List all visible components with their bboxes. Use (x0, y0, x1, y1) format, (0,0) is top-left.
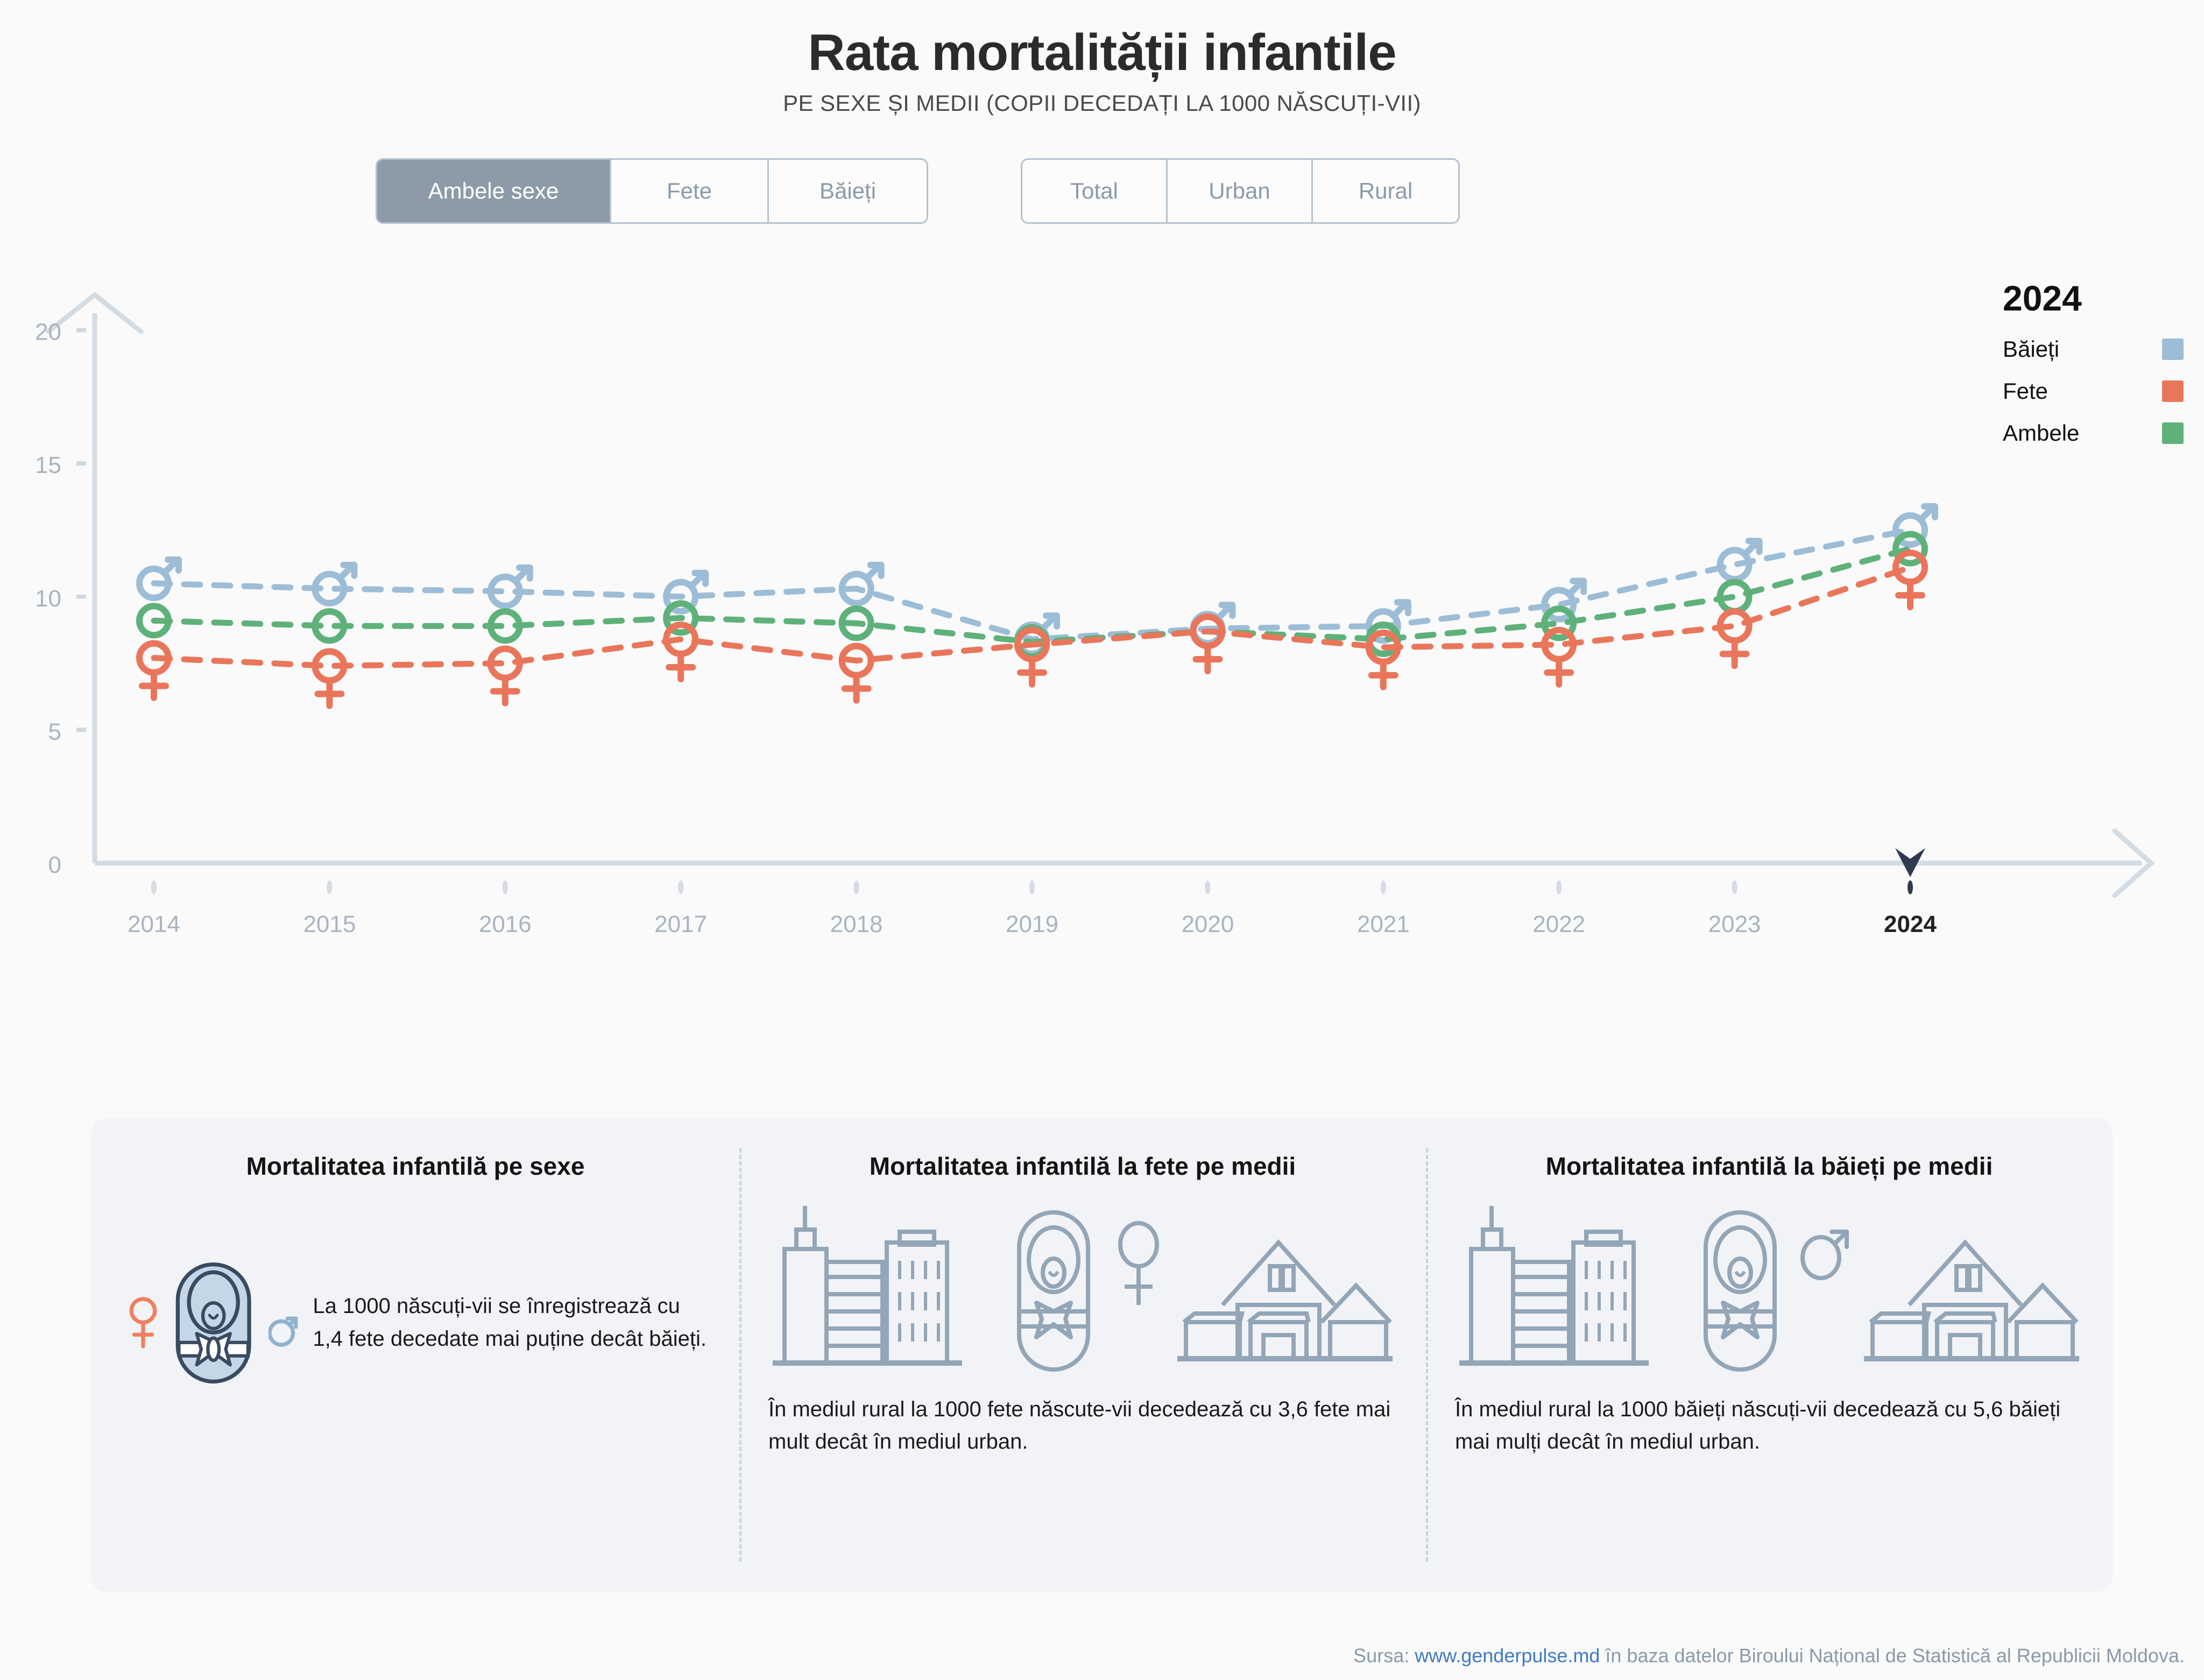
data-point-male-symbol[interactable] (1193, 605, 1232, 643)
swaddled-baby-icon (1691, 1202, 1793, 1379)
x-tick (503, 880, 508, 894)
toggle-urban[interactable]: Urban (1168, 160, 1313, 222)
x-tick (1556, 880, 1562, 894)
toggle-baieti[interactable]: Băieți (769, 160, 927, 222)
toggle-fete[interactable]: Fete (611, 160, 769, 222)
male-symbol-icon (269, 1261, 299, 1385)
x-axis-label[interactable]: 2018 (830, 911, 883, 937)
legend-item-ambele[interactable]: Ambele (1967, 412, 2193, 454)
x-axis-label[interactable]: 2019 (1006, 911, 1058, 937)
chart-area: 0510152020142015201620172018201920202021… (0, 271, 2204, 917)
x-tick (854, 880, 859, 894)
x-tick (1732, 880, 1737, 894)
female-symbol-icon (128, 1261, 158, 1385)
chart-legend: 2024 Băieți Fete Ambele (1967, 278, 2193, 454)
x-axis-label[interactable]: 2022 (1532, 911, 1585, 937)
source-link[interactable]: www.genderpulse.md (1415, 1644, 1600, 1667)
infographic-page: Rata mortalității infantile PE SEXE ȘI M… (0, 0, 2204, 1680)
y-axis-label: 15 (35, 452, 61, 478)
x-axis-label[interactable]: 2021 (1357, 911, 1410, 937)
info-panels: Mortalitatea infantilă pe sexe (91, 1118, 2113, 1592)
panel-body: La 1000 născuți-vii se înregistrează cu … (121, 1202, 710, 1444)
page-subtitle: PE SEXE ȘI MEDII (COPII DECEDAȚI LA 1000… (0, 90, 2204, 116)
filter-controls: Ambele sexe Fete Băieți Total Urban Rura… (0, 158, 2204, 224)
y-axis-label: 20 (35, 319, 61, 345)
panel-illustration (1455, 1202, 2083, 1379)
data-point-female-symbol[interactable] (315, 651, 344, 705)
toggle-rural[interactable]: Rural (1313, 160, 1458, 222)
data-point-female-symbol[interactable] (842, 646, 871, 700)
legend-label-ambele: Ambele (2003, 420, 2079, 446)
data-point-female-symbol[interactable] (1720, 611, 1749, 666)
legend-year: 2024 (1967, 278, 2193, 319)
legend-label-baieti: Băieți (2003, 336, 2059, 362)
legend-item-fete[interactable]: Fete (1967, 370, 2193, 412)
city-buildings-icon (1455, 1202, 1686, 1379)
toggle-ambele-sexe[interactable]: Ambele sexe (377, 160, 611, 222)
data-point-male-symbol[interactable] (315, 565, 354, 603)
page-header: Rata mortalității infantile PE SEXE ȘI M… (0, 0, 2204, 116)
x-axis-label[interactable]: 2015 (303, 911, 356, 937)
source-footer: Sursa: www.genderpulse.md în baza datelo… (1353, 1644, 2185, 1667)
data-point-female-symbol[interactable] (1193, 617, 1222, 671)
panel-title: Mortalitatea infantilă la băieți pe medi… (1455, 1152, 2083, 1181)
panel-title: Mortalitatea infantilă la fete pe medii (768, 1152, 1397, 1181)
panel-illustration (768, 1202, 1397, 1379)
data-point-female-symbol[interactable] (491, 648, 520, 703)
x-axis-label[interactable]: 2020 (1181, 911, 1234, 937)
female-symbol-icon (1111, 1202, 1167, 1379)
x-tick (151, 880, 157, 894)
panel-mortalitate-pe-sexe: Mortalitatea infantilă pe sexe (91, 1118, 739, 1592)
y-axis-label: 0 (48, 852, 61, 878)
data-point-male-symbol[interactable] (139, 560, 179, 598)
swaddled-baby-icon (172, 1202, 255, 1444)
x-tick (1908, 880, 1913, 894)
rural-houses-icon (1171, 1202, 1397, 1379)
x-tick (1381, 880, 1386, 894)
x-tick (678, 880, 683, 894)
male-symbol-icon (1797, 1202, 1853, 1379)
legend-swatch-fete (2162, 380, 2184, 402)
legend-item-baieti[interactable]: Băieți (1967, 328, 2193, 370)
city-buildings-icon (768, 1202, 1000, 1379)
y-axis-label: 10 (35, 585, 61, 611)
panel-body: În mediul rural la 1000 fete născute-vii… (768, 1202, 1397, 1458)
sex-toggle-group: Ambele sexe Fete Băieți (376, 158, 928, 224)
panel-text: În mediul rural la 1000 băieți născuți-v… (1455, 1393, 2083, 1458)
data-point-male-symbol[interactable] (491, 568, 530, 606)
line-chart: 0510152020142015201620172018201920202021… (0, 271, 2204, 955)
panel-text: La 1000 născuți-vii se înregistrează cu … (313, 1290, 710, 1356)
source-suffix: în baza datelor Biroului Național de Sta… (1600, 1644, 2185, 1667)
data-point-male-symbol[interactable] (842, 565, 881, 603)
x-tick (1205, 880, 1210, 894)
x-axis-label[interactable]: 2024 (1884, 911, 1937, 937)
panel-text: În mediul rural la 1000 fete născute-vii… (768, 1393, 1397, 1458)
page-title: Rata mortalității infantile (0, 25, 2204, 81)
x-axis-label[interactable]: 2014 (128, 911, 180, 937)
data-point-female-symbol[interactable] (139, 643, 168, 697)
panel-body: În mediul rural la 1000 băieți născuți-v… (1455, 1202, 2083, 1458)
toggle-total[interactable]: Total (1022, 160, 1168, 222)
panel-title: Mortalitatea infantilă pe sexe (121, 1152, 710, 1181)
legend-swatch-ambele (2162, 422, 2184, 444)
legend-label-fete: Fete (2003, 378, 2048, 404)
x-axis-label[interactable]: 2016 (479, 911, 532, 937)
panel-baieti-pe-medii: Mortalitatea infantilă la băieți pe medi… (1426, 1118, 2113, 1592)
y-axis-label: 5 (48, 718, 61, 745)
x-tick (1029, 880, 1035, 894)
source-prefix: Sursa: (1353, 1644, 1415, 1667)
rural-houses-icon (1857, 1202, 2083, 1379)
x-axis-label[interactable]: 2017 (654, 911, 707, 937)
x-axis-label[interactable]: 2023 (1708, 911, 1761, 937)
x-tick (327, 880, 332, 894)
area-toggle-group: Total Urban Rural (1021, 158, 1460, 224)
swaddled-baby-icon (1004, 1202, 1106, 1379)
panel-fete-pe-medii: Mortalitatea infantilă la fete pe medii (739, 1118, 1426, 1592)
legend-swatch-baieti (2162, 338, 2184, 360)
